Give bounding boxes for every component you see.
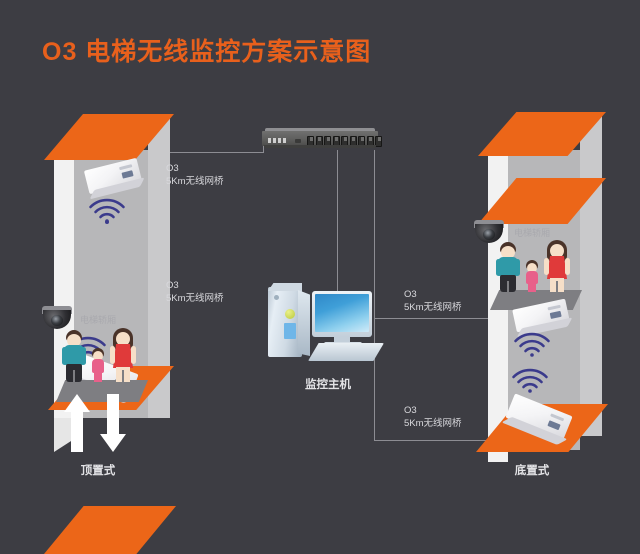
switch-led-indicator xyxy=(295,139,301,143)
bridge-label-line2: 5Km无线网桥 xyxy=(404,301,462,314)
bridge-label-line2: 5Km无线网桥 xyxy=(166,292,224,305)
arrow-up-left xyxy=(64,394,90,452)
woman-head xyxy=(116,332,130,346)
wifi-arcs-left-top xyxy=(87,196,127,224)
bridge-label-line1: O3 xyxy=(404,404,462,417)
arrow-down-left xyxy=(100,394,126,452)
woman-arm-left xyxy=(110,346,115,364)
elevator-left: 电梯轿厢 xyxy=(18,108,178,463)
person-man-right xyxy=(496,242,520,292)
child-legs xyxy=(94,372,102,382)
pc-drive-bay xyxy=(284,323,296,339)
cabin-label-left: 电梯轿厢 xyxy=(80,313,116,326)
child-dress xyxy=(92,359,104,373)
caption-left-unit: 顶置式 xyxy=(58,462,138,478)
child-legs xyxy=(528,283,536,292)
wire-switch-to-host xyxy=(337,150,338,302)
bridge-label-line2: 5Km无线网桥 xyxy=(166,175,224,188)
pc-tower-top xyxy=(268,283,302,291)
woman-dress xyxy=(547,256,567,279)
camera-lens xyxy=(483,229,495,240)
man-leg-gap xyxy=(73,370,75,382)
bridge-label-left-top: O3 5Km无线网桥 xyxy=(166,162,224,188)
pc-monitor-screen xyxy=(315,294,369,332)
bridge-label-line1: O3 xyxy=(166,279,224,292)
shaft-right-wall-right xyxy=(580,126,602,436)
bridge-label-left-cabin: O3 5Km无线网桥 xyxy=(166,279,224,305)
woman-arm-left xyxy=(544,258,549,275)
diagram-canvas: O3 电梯无线监控方案示意图 xyxy=(0,0,640,532)
page-title: O3 电梯无线监控方案示意图 xyxy=(42,32,371,68)
bridge-label-right-cabin: O3 5Km无线网桥 xyxy=(404,288,462,314)
elevator-right: 电梯轿厢 xyxy=(466,108,626,463)
man-arm-left xyxy=(62,347,67,365)
man-arm-right xyxy=(81,347,86,365)
person-woman-left xyxy=(110,328,136,382)
wifi-arcs-right-cabin xyxy=(512,330,552,358)
bridge-label-line1: O3 xyxy=(166,162,224,175)
woman-leg-gap xyxy=(556,281,558,292)
caption-monitoring-host: 监控主机 xyxy=(288,376,368,392)
woman-dress xyxy=(113,344,133,368)
platform-base-left xyxy=(44,506,176,554)
wifi-arcs-right-bottom xyxy=(510,366,550,394)
woman-head xyxy=(550,244,564,258)
switch-port[interactable] xyxy=(375,136,382,147)
person-woman-right xyxy=(544,240,570,292)
switch-base xyxy=(264,145,376,148)
switch-brand-logo xyxy=(268,138,290,143)
cabin-label-right: 电梯轿厢 xyxy=(514,226,550,239)
caption-right-unit: 底置式 xyxy=(492,462,572,478)
person-child-right xyxy=(524,260,540,292)
woman-arm-right xyxy=(565,258,570,275)
person-child-left xyxy=(90,348,106,382)
bridge-label-line2: 5Km无线网桥 xyxy=(404,417,462,430)
pc-keyboard[interactable] xyxy=(308,343,384,361)
pc-power-button[interactable] xyxy=(285,309,295,319)
man-leg-gap xyxy=(507,281,509,292)
bridge-label-line1: O3 xyxy=(404,288,462,301)
man-arm-left xyxy=(496,259,501,276)
monitoring-host[interactable] xyxy=(268,281,388,371)
network-switch[interactable] xyxy=(262,128,378,150)
switch-front-face xyxy=(262,131,378,146)
camera-lens xyxy=(51,315,63,326)
pc-tower-side xyxy=(298,290,310,356)
pc-vent xyxy=(274,295,279,300)
man-arm-right xyxy=(515,259,520,276)
dome-camera-left xyxy=(42,306,72,330)
bridge-label-right-bottom: O3 5Km无线网桥 xyxy=(404,404,462,430)
dome-camera-right xyxy=(474,220,504,244)
woman-arm-right xyxy=(131,346,136,364)
person-man-left xyxy=(62,330,86,382)
woman-leg-gap xyxy=(122,370,124,382)
